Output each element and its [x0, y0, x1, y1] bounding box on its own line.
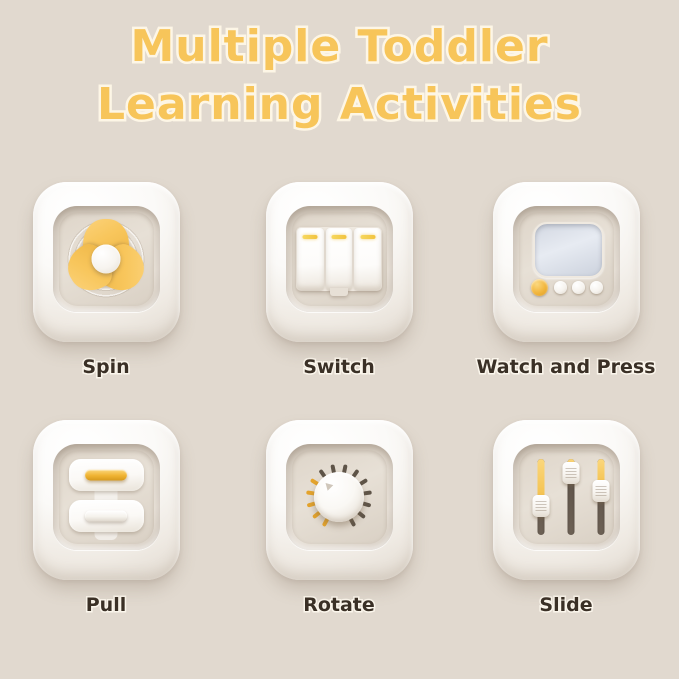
activity-cell-spin: Spin — [0, 182, 219, 378]
tile-well-spin — [53, 206, 160, 312]
indicator-led-icon — [332, 235, 347, 239]
indicator-led-icon — [303, 235, 318, 239]
tile-caption-slide: Slide — [453, 594, 679, 616]
tile-caption-rotate: Rotate — [226, 594, 452, 616]
tile-well-slide — [513, 444, 620, 550]
page-title-line-1: Multiple Toddler — [0, 18, 679, 76]
tv-button-2[interactable] — [572, 281, 585, 294]
tile-well-inner-switch — [292, 212, 387, 306]
activity-cell-switch: Switch — [226, 182, 452, 378]
tv-screen — [533, 222, 604, 278]
tile-well-inner-rotate — [292, 450, 387, 544]
tile-well-inner-spin — [59, 212, 154, 306]
tile-caption-spin: Spin — [0, 356, 219, 378]
tile-rotate[interactable] — [266, 420, 413, 580]
fan-hub-icon[interactable] — [92, 245, 121, 274]
indicator-led-icon — [360, 235, 375, 239]
tile-spin[interactable] — [33, 182, 180, 342]
tv-body — [519, 212, 614, 306]
tile-well-pull — [53, 444, 160, 550]
pull-slider-bottom[interactable] — [69, 500, 144, 532]
slide-fader-1[interactable] — [530, 455, 552, 539]
tile-well-inner-slide — [519, 450, 614, 544]
tile-watch-and-press[interactable] — [493, 182, 640, 342]
fader-handle-icon[interactable] — [562, 462, 579, 484]
tile-caption-pull: Pull — [0, 594, 219, 616]
activity-cell-watch-and-press: Watch and Press — [453, 182, 679, 378]
rotary-knob[interactable] — [314, 472, 364, 522]
tile-well-switch — [286, 206, 393, 312]
tile-well-inner-watch-and-press — [519, 212, 614, 306]
rocker-switch-3[interactable] — [354, 228, 381, 290]
page-title: Multiple Toddler Learning Activities — [0, 18, 679, 134]
tile-pull[interactable] — [33, 420, 180, 580]
tv-button-3[interactable] — [590, 281, 603, 294]
tile-well-watch-and-press — [513, 206, 620, 312]
knob-pointer-icon — [323, 480, 334, 491]
page-title-line-2: Learning Activities — [0, 76, 679, 134]
tile-slide[interactable] — [493, 420, 640, 580]
switch-tab — [330, 288, 348, 296]
rocker-switch-plate — [296, 227, 382, 291]
fader-handle-icon[interactable] — [592, 480, 609, 502]
pull-handle-icon[interactable] — [85, 511, 127, 522]
tile-well-rotate — [286, 444, 393, 550]
slide-fader-2[interactable] — [560, 455, 582, 539]
tile-well-inner-pull — [59, 450, 154, 544]
activity-cell-pull: Pull — [0, 420, 219, 616]
tv-button-1[interactable] — [554, 281, 567, 294]
tile-caption-watch-and-press: Watch and Press — [453, 356, 679, 378]
power-button[interactable] — [531, 279, 548, 296]
tile-caption-switch: Switch — [226, 356, 452, 378]
activity-tile-grid: Spin — [0, 182, 679, 652]
pull-handle-icon[interactable] — [85, 470, 127, 481]
slide-fader-3[interactable] — [590, 455, 612, 539]
tile-switch[interactable] — [266, 182, 413, 342]
activity-cell-rotate: Rotate — [226, 420, 452, 616]
pull-slider-top[interactable] — [69, 459, 144, 491]
activity-cell-slide: Slide — [453, 420, 679, 616]
rocker-switch-2[interactable] — [326, 228, 353, 290]
rocker-switch-1[interactable] — [297, 228, 324, 290]
fader-handle-icon[interactable] — [532, 495, 549, 517]
